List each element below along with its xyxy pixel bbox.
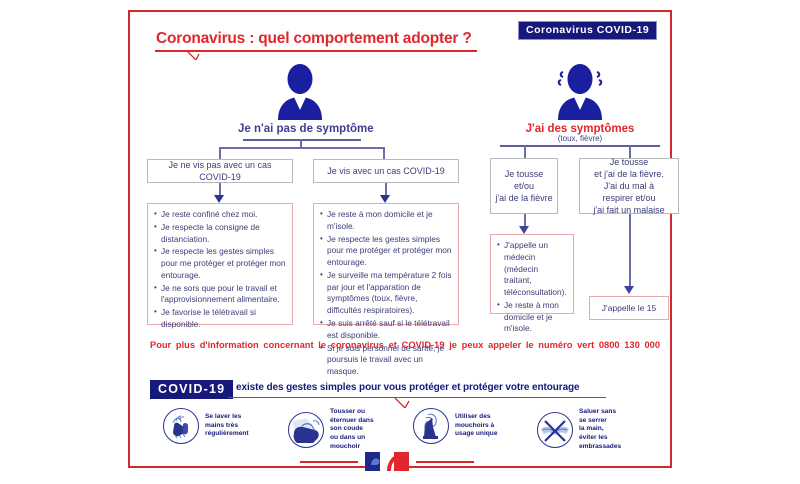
coronavirus-badge: Coronavirus COVID-19 bbox=[518, 21, 657, 40]
wash-hands-icon bbox=[163, 408, 199, 444]
answer-list-left-2: Je reste à mon domicile et je m'isole. J… bbox=[320, 209, 452, 378]
person-no-symptoms-icon bbox=[272, 62, 328, 120]
connector-left-drop-1 bbox=[219, 147, 221, 159]
list-item: Je reste confiné chez moi. bbox=[154, 209, 286, 221]
list-item: Je surveille ma température 2 fois par j… bbox=[320, 270, 452, 317]
arrow-head-right-1 bbox=[519, 226, 529, 234]
answer-box-right-2: J'appelle le 15 bbox=[589, 296, 669, 320]
connector-right-drop-1 bbox=[524, 145, 526, 158]
info-line: Pour plus d'information concernant le co… bbox=[150, 340, 660, 350]
question-box-right-2: Je tousse et j'ai de la fièvre. J'ai du … bbox=[579, 158, 679, 214]
list-item: Je respecte les gestes simples pour me p… bbox=[154, 246, 286, 281]
branch-left-rule bbox=[243, 139, 361, 141]
question-box-left-1: Je ne vis pas avec un cas COVID-19 bbox=[147, 159, 293, 183]
title-tick-icon bbox=[186, 51, 200, 60]
answer-box-left-1: Je reste confiné chez moi. Je respecte l… bbox=[147, 203, 293, 325]
list-item: Je ne sors que pour le travail et l'appr… bbox=[154, 283, 286, 307]
question-box-right-1: Je tousse et/ou j'ai de la fièvre bbox=[490, 158, 558, 214]
footer-rule-left bbox=[300, 461, 358, 463]
covid19-badge: COVID-19 bbox=[150, 380, 233, 399]
gestures-banner-text: Il existe des gestes simples pour vous p… bbox=[228, 382, 580, 393]
answer-box-left-2: Je reste à mon domicile et je m'isole. J… bbox=[313, 203, 459, 325]
arrow-head-left-2 bbox=[380, 195, 390, 203]
list-item: Je reste à mon domicile et je m'isole. bbox=[497, 300, 567, 335]
gestures-banner-underline bbox=[228, 397, 606, 398]
gesture-label: Saluer sans se serrer la main, éviter le… bbox=[579, 408, 621, 452]
branch-right-subtitle: (toux, fièvre) bbox=[520, 134, 640, 143]
question-box-left-2: Je vis avec un cas COVID-19 bbox=[313, 159, 459, 183]
gesture-item-no-handshake: Saluer sans se serrer la main, éviter le… bbox=[537, 408, 621, 452]
cough-elbow-icon bbox=[288, 412, 324, 448]
tissue-icon bbox=[413, 408, 449, 444]
arrow-head-left-1 bbox=[214, 195, 224, 203]
list-item: J'appelle un médecin (médecin traitant, … bbox=[497, 240, 567, 299]
list-item: Je respecte la consigne de distanciation… bbox=[154, 222, 286, 246]
infographic-root: Coronavirus : quel comportement adopter … bbox=[0, 0, 800, 484]
gesture-item-wash-hands: Se laver les mains très régulièrement bbox=[163, 408, 249, 444]
page-title: Coronavirus : quel comportement adopter … bbox=[156, 30, 472, 48]
gesture-item-tissue: Utiliser des mouchoirs à usage unique bbox=[413, 408, 498, 444]
title-underline bbox=[155, 50, 477, 52]
list-item: Je favorise le télétravail si disponible… bbox=[154, 307, 286, 331]
list-item: Je suis arrêté sauf si le télétravail es… bbox=[320, 318, 452, 342]
connector-left-bar bbox=[219, 147, 384, 149]
gestures-tick-icon bbox=[394, 398, 410, 408]
gesture-label: Utiliser des mouchoirs à usage unique bbox=[455, 413, 498, 439]
list-item: Je respecte les gestes simples pour me p… bbox=[320, 234, 452, 269]
branch-heading-right: J'ai des symptômes (toux, fièvre) bbox=[520, 123, 640, 143]
gesture-label: Tousser ou éternuer dans son coude ou da… bbox=[330, 408, 374, 452]
gesture-label: Se laver les mains très régulièrement bbox=[205, 413, 249, 439]
french-republic-flag-logo bbox=[365, 452, 409, 471]
answer-list-right-1: J'appelle un médecin (médecin traitant, … bbox=[497, 240, 567, 335]
arrow-head-right-2 bbox=[624, 286, 634, 294]
list-item: Je reste à mon domicile et je m'isole. bbox=[320, 209, 452, 233]
connector-left-drop-2 bbox=[383, 147, 385, 159]
answer-list-left-1: Je reste confiné chez moi. Je respecte l… bbox=[154, 209, 286, 331]
footer-rule-right bbox=[416, 461, 474, 463]
branch-heading-left: Je n'ai pas de symptôme bbox=[238, 123, 364, 135]
gesture-item-cough-elbow: Tousser ou éternuer dans son coude ou da… bbox=[288, 408, 374, 452]
answer-box-right-1: J'appelle un médecin (médecin traitant, … bbox=[490, 234, 574, 314]
person-with-symptoms-icon bbox=[547, 62, 613, 120]
arrow-line-right-2 bbox=[629, 214, 631, 288]
no-handshake-icon bbox=[537, 412, 573, 448]
